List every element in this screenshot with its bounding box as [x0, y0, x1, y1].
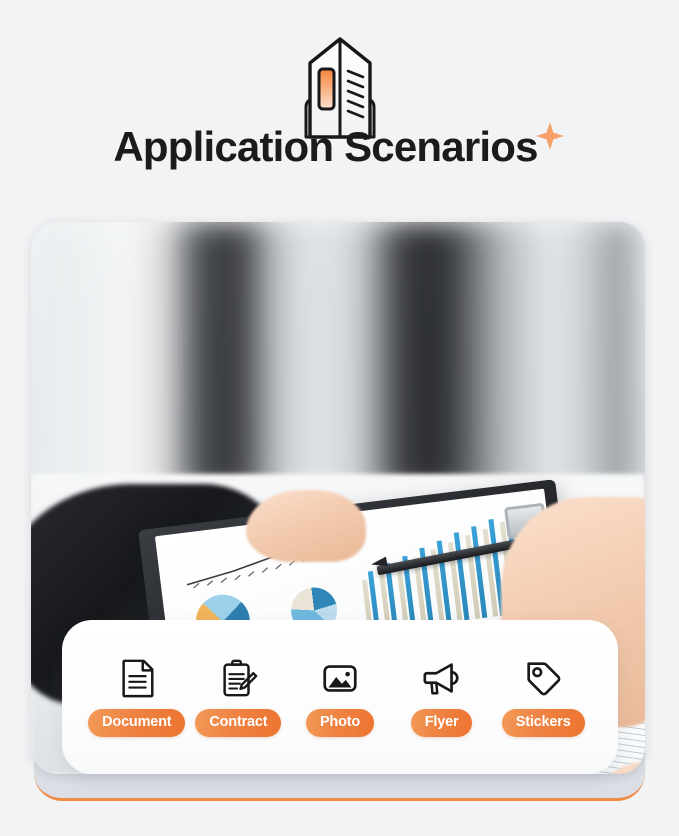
badge-item-flyer[interactable]: Flyer	[391, 657, 493, 737]
image-icon	[319, 657, 361, 699]
document-icon	[116, 657, 158, 699]
badge-item-photo[interactable]: Photo	[289, 657, 391, 737]
badge-label-stickers: Stickers	[502, 709, 585, 737]
header: Application Scenarios	[0, 0, 679, 205]
badge-label-flyer: Flyer	[411, 709, 473, 737]
megaphone-icon	[421, 657, 463, 699]
scenario-badge-list: Document Contract Photo	[62, 620, 618, 774]
page-title-text: Application Scenarios	[113, 126, 537, 168]
hand-holding-clipboard	[246, 490, 366, 562]
badge-item-document[interactable]: Document	[86, 657, 188, 737]
page-title: Application Scenarios	[0, 126, 679, 168]
badge-label-document: Document	[88, 709, 185, 737]
badge-item-contract[interactable]: Contract	[188, 657, 290, 737]
badge-item-stickers[interactable]: Stickers	[492, 657, 594, 737]
scenario-badge-card: Document Contract Photo	[62, 620, 618, 774]
clipboard-pen-icon	[217, 657, 259, 699]
tag-icon	[522, 657, 564, 699]
badge-label-photo: Photo	[306, 709, 374, 737]
badge-label-contract: Contract	[195, 709, 281, 737]
sparkle-icon	[534, 120, 566, 152]
